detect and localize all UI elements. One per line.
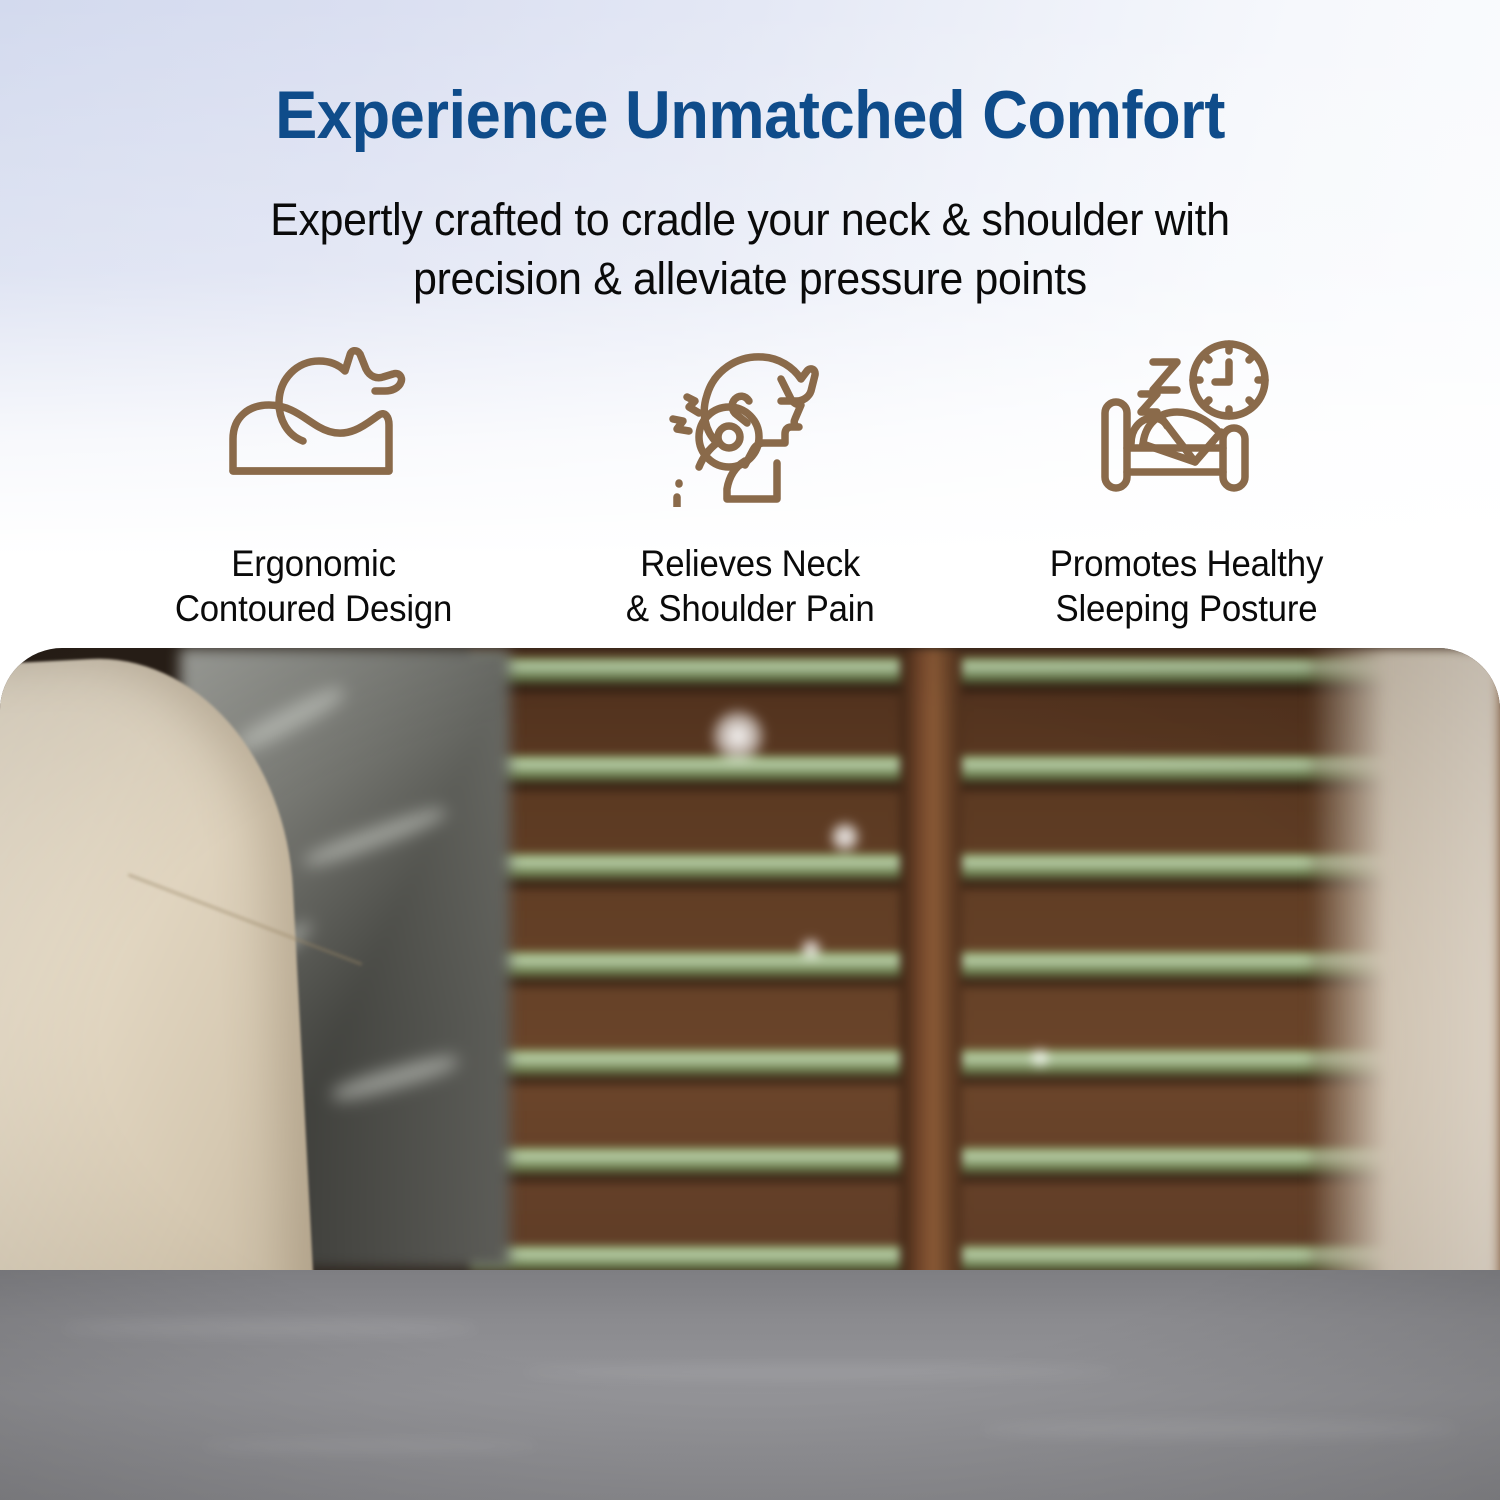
- feature-3-line-2: Sleeping Posture: [1049, 586, 1322, 631]
- page-subtitle: Expertly crafted to cradle your neck & s…: [180, 190, 1320, 308]
- product-lifestyle-photo: [0, 648, 1500, 1500]
- feature-list: Ergonomic Contoured Design: [96, 330, 1404, 631]
- head-on-contoured-pillow-icon: [214, 330, 414, 515]
- top-info-panel: Experience Unmatched Comfort Expertly cr…: [0, 0, 1500, 648]
- feature-item-promotes-healthy-sleeping-posture: Promotes Healthy Sleeping Posture: [968, 330, 1404, 631]
- feature-3-line-1: Promotes Healthy: [1049, 541, 1322, 586]
- page-title: Experience Unmatched Comfort: [53, 76, 1448, 154]
- feature-item-relieves-neck-shoulder-pain: Relieves Neck & Shoulder Pain: [532, 330, 968, 631]
- feature-2-line-2: & Shoulder Pain: [626, 586, 875, 631]
- bed-sheet: [0, 1270, 1500, 1500]
- feature-label-relieves-neck-shoulder-pain: Relieves Neck & Shoulder Pain: [626, 541, 875, 631]
- subtitle-line-2: precision & alleviate pressure points: [180, 249, 1320, 308]
- head-with-neck-pain-icon: [650, 330, 850, 515]
- feature-item-ergonomic-contoured-design: Ergonomic Contoured Design: [96, 330, 532, 631]
- person-sleeping-in-bed-with-clock-icon: [1086, 330, 1286, 515]
- feature-1-line-2: Contoured Design: [175, 586, 452, 631]
- feature-label-ergonomic-contoured-design: Ergonomic Contoured Design: [175, 541, 452, 631]
- feature-2-line-1: Relieves Neck: [626, 541, 875, 586]
- marketing-infographic: Experience Unmatched Comfort Expertly cr…: [0, 0, 1500, 1500]
- subtitle-line-1: Expertly crafted to cradle your neck & s…: [180, 190, 1320, 249]
- feature-1-line-1: Ergonomic: [175, 541, 452, 586]
- feature-label-promotes-healthy-sleeping-posture: Promotes Healthy Sleeping Posture: [1049, 541, 1322, 631]
